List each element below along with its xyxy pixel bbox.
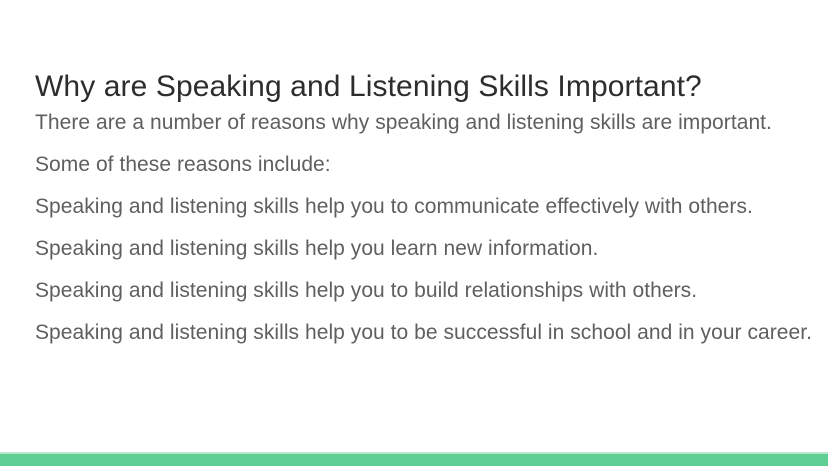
body-line: There are a number of reasons why speaki… [35,110,825,152]
bottom-accent-bar [0,452,828,466]
body-line: Speaking and listening skills help you t… [35,320,825,362]
presentation-slide: Why are Speaking and Listening Skills Im… [0,0,828,466]
accent-bar-highlight [0,452,828,454]
body-line: Speaking and listening skills help you t… [35,194,825,236]
slide-body-list: There are a number of reasons why speaki… [35,110,825,362]
body-line: Some of these reasons include: [35,152,825,194]
slide-title: Why are Speaking and Listening Skills Im… [35,68,702,106]
body-line: Speaking and listening skills help you t… [35,278,825,320]
body-line: Speaking and listening skills help you l… [35,236,825,278]
